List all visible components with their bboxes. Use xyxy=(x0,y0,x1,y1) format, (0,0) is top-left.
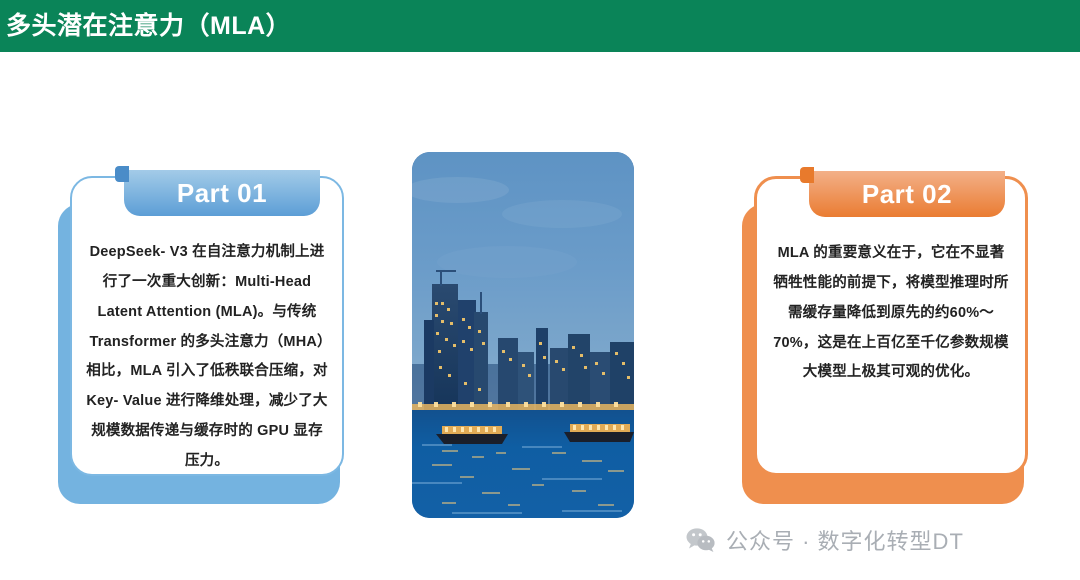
card-body-text: DeepSeek- V3 在自注意力机制上进行了一次重大创新：Multi-Hea… xyxy=(86,238,328,477)
card-face: Part 02 MLA 的重要意义在于，它在不显著牺牲性能的前提下，将模型推理时… xyxy=(754,176,1028,476)
page-title: 多头潜在注意力（MLA） xyxy=(0,0,291,52)
badge-label: Part 01 xyxy=(177,178,267,209)
card-part-01: Part 01 DeepSeek- V3 在自注意力机制上进行了一次重大创新：M… xyxy=(58,176,348,506)
badge-part-01: Part 01 xyxy=(124,170,320,216)
footer-watermark: 公众号 · 数字化转型DT xyxy=(686,520,964,560)
city-skyline-illustration xyxy=(412,152,634,518)
badge-corner-tab xyxy=(115,166,129,182)
header-banner: 多头潜在注意力（MLA） xyxy=(0,0,1080,52)
card-body-text: MLA 的重要意义在于，它在不显著牺牲性能的前提下，将模型推理时所需缓存量降低到… xyxy=(771,239,1011,388)
badge-label: Part 02 xyxy=(862,179,952,210)
badge-corner-tab xyxy=(800,167,814,183)
card-part-02: Part 02 MLA 的重要意义在于，它在不显著牺牲性能的前提下，将模型推理时… xyxy=(742,176,1032,506)
wechat-icon xyxy=(686,527,716,553)
badge-part-02: Part 02 xyxy=(809,171,1005,217)
card-face: Part 01 DeepSeek- V3 在自注意力机制上进行了一次重大创新：M… xyxy=(70,176,344,476)
city-skyline-photo xyxy=(412,152,634,518)
watermark-text: 公众号 · 数字化转型DT xyxy=(726,524,964,556)
